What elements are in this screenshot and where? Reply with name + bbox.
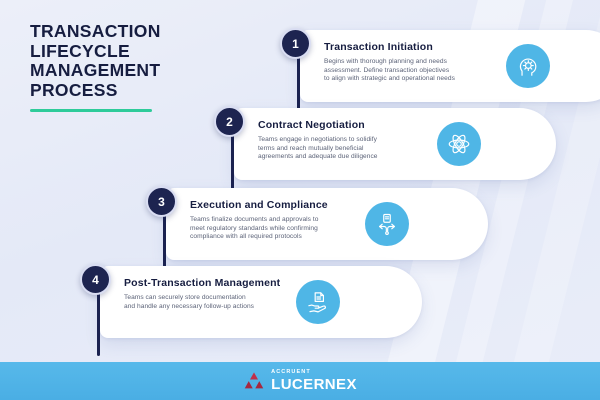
step-card[interactable]: Post-Transaction Management Teams can se… [100,266,422,338]
footer-bar: ACCRUENT LUCERNEX [0,362,600,400]
title-line-4: PROCESS [30,81,230,101]
step-heading: Transaction Initiation [324,41,600,53]
step-heading: Post-Transaction Management [124,277,422,289]
page-title: TRANSACTION LIFECYCLE MANAGEMENT PROCESS [30,22,230,112]
step-card[interactable]: Execution and Compliance Teams finalize … [166,188,488,260]
triangles-mark-icon [243,371,265,391]
step-description: Teams finalize documents and approvals t… [190,216,370,242]
step-description: Teams engage in negotiations to solidify… [258,136,438,162]
document-cycle-icon [365,202,409,246]
step-description-line: compliance with all required protocols [190,233,370,242]
brand-parent-name: ACCRUENT [271,370,357,376]
step-heading: Contract Negotiation [258,119,556,131]
title-line-2: LIFECYCLE [30,42,230,62]
step-description-line: Teams can securely store documentation [124,294,304,303]
brand-product-name: LUCERNEX [271,377,357,392]
step-description-line: Begins with thorough planning and needs [324,58,504,67]
step-description-line: agreements and adequate due diligence [258,153,438,162]
head-with-gear-icon [506,44,550,88]
step-description-line: assessment. Define transaction objective… [324,67,504,76]
step-description-line: to align with strategic and operational … [324,75,504,84]
step-description-line: Teams engage in negotiations to solidify [258,136,438,145]
step-description-line: meet regulatory standards while confirmi… [190,225,370,234]
title-underline-rule [30,109,152,112]
step-number-badge[interactable]: 2 [214,106,245,137]
step-card[interactable]: Transaction Initiation Begins with thoro… [300,30,600,102]
step-description-line: Teams finalize documents and approvals t… [190,216,370,225]
atom-icon [437,122,481,166]
step-heading: Execution and Compliance [190,199,488,211]
title-line-1: TRANSACTION [30,22,230,42]
hand-holding-document-icon [296,280,340,324]
infographic-canvas: TRANSACTION LIFECYCLE MANAGEMENT PROCESS… [0,0,600,400]
brand-logo[interactable]: ACCRUENT LUCERNEX [243,370,357,392]
step-number-badge[interactable]: 1 [280,28,311,59]
step-description-line: terms and reach mutually beneficial [258,145,438,154]
step-description: Teams can securely store documentation a… [124,294,304,311]
step-card[interactable]: Contract Negotiation Teams engage in neg… [234,108,556,180]
title-line-3: MANAGEMENT [30,61,230,81]
step-description: Begins with thorough planning and needs … [324,58,504,84]
step-number-badge[interactable]: 3 [146,186,177,217]
step-number-badge[interactable]: 4 [80,264,111,295]
brand-logo-text: ACCRUENT LUCERNEX [271,370,357,392]
step-description-line: and handle any necessary follow-up actio… [124,303,304,312]
